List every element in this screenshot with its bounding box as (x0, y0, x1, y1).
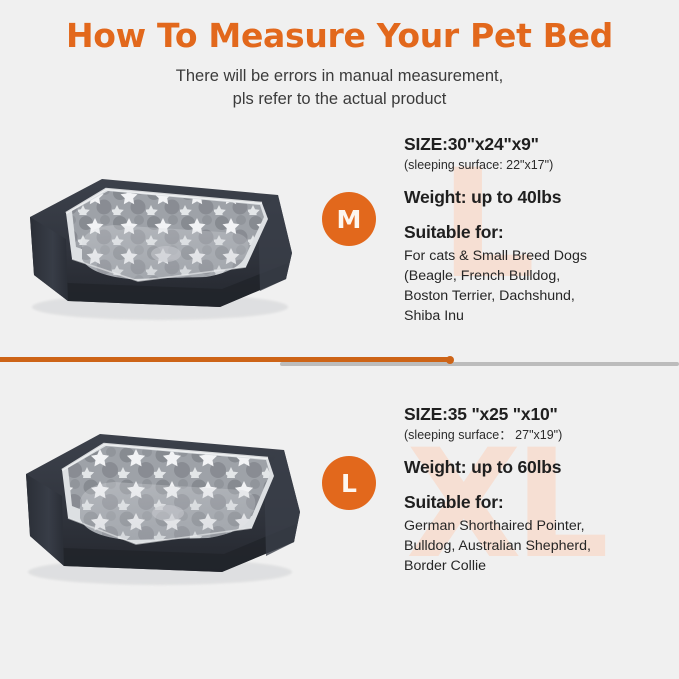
header: How To Measure Your Pet Bed There will b… (0, 0, 679, 110)
pet-bed-image-medium (10, 155, 310, 330)
pet-bed-illustration (10, 414, 310, 589)
spec-suitable-body-medium: For cats & Small Breed Dogs (Beagle, Fre… (404, 246, 676, 327)
pet-bed-image-large (10, 414, 310, 589)
spec-weight-large: Weight: up to 60lbs (404, 457, 676, 479)
size-badge-large[interactable]: L (322, 456, 376, 510)
spec-suitable-body-large: German Shorthaired Pointer, Bulldog, Aus… (404, 516, 676, 576)
spec-suitable-label-medium: Suitable for: (404, 222, 676, 244)
size-badge-medium[interactable]: M (322, 192, 376, 246)
subtitle-line-1: There will be errors in manual measureme… (0, 65, 679, 87)
size-panel-large: L XL SIZE:35 "x25 "x10" (sleeping surfac… (0, 398, 679, 608)
spec-sleeping-surface-large: (sleeping surface： 27"x19") (404, 427, 676, 444)
size-panel-medium: M L SIZE:30"x24"x9" (sleeping surface: 2… (0, 130, 679, 340)
spec-suitable-label-large: Suitable for: (404, 492, 676, 514)
subtitle-line-2: pls refer to the actual product (0, 88, 679, 110)
page-title: How To Measure Your Pet Bed (0, 0, 679, 54)
pet-bed-illustration (10, 155, 310, 330)
spec-block-medium: L SIZE:30"x24"x9" (sleeping surface: 22"… (404, 134, 676, 326)
infographic-page: How To Measure Your Pet Bed There will b… (0, 0, 679, 679)
spec-sleeping-surface-medium: (sleeping surface: 22"x17") (404, 157, 676, 174)
spec-weight-medium: Weight: up to 40lbs (404, 187, 676, 209)
spec-size-large: SIZE:35 "x25 "x10" (404, 404, 676, 426)
section-divider (0, 352, 679, 374)
spec-size-medium: SIZE:30"x24"x9" (404, 134, 676, 156)
divider-orange-line (0, 357, 453, 362)
spec-block-large: XL SIZE:35 "x25 "x10" (sleeping surface：… (404, 404, 676, 576)
divider-gray-line (280, 362, 679, 366)
